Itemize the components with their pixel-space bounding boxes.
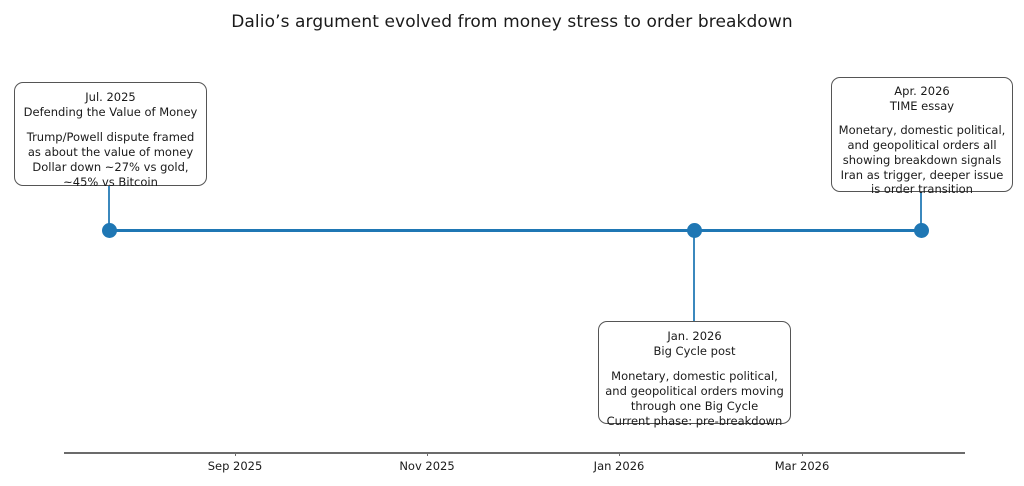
annotation-spacer: [21, 119, 200, 130]
annotation-box-event1: Jul. 2025 Defending the Value of Money T…: [14, 82, 207, 186]
annotation-spacer: [838, 113, 1006, 123]
annotation-header-event1: Jul. 2025 Defending the Value of Money: [21, 90, 200, 119]
x-axis-label-1: Nov 2025: [399, 459, 454, 473]
timeline-spine: [109, 229, 921, 232]
annotation-header-event2: Jan. 2026 Big Cycle post: [605, 329, 784, 358]
x-axis-tick-0: [235, 452, 236, 456]
x-axis-label-0: Sep 2025: [208, 459, 263, 473]
x-axis-tick-1: [427, 452, 428, 456]
annotation-box-event3: Apr. 2026 TIME essay Monetary, domestic …: [831, 77, 1013, 192]
x-axis-line: [64, 452, 965, 454]
annotation-spacer: [605, 358, 784, 369]
x-axis-tick-3: [802, 452, 803, 456]
x-axis-label-3: Mar 2026: [775, 459, 830, 473]
annotation-box-event2: Jan. 2026 Big Cycle post Monetary, domes…: [598, 321, 791, 424]
x-axis-tick-2: [619, 452, 620, 456]
annotation-body-event3: Monetary, domestic political, and geopol…: [838, 123, 1006, 197]
timeline-node-event1[interactable]: [102, 223, 117, 238]
connector-event2: [693, 230, 695, 321]
annotation-header-event3: Apr. 2026 TIME essay: [838, 84, 1006, 113]
timeline-node-event3[interactable]: [914, 223, 929, 238]
annotation-body-event1: Trump/Powell dispute framed as about the…: [21, 130, 200, 189]
x-axis-label-2: Jan 2026: [594, 459, 645, 473]
timeline-chart: Dalio’s argument evolved from money stre…: [0, 0, 1024, 486]
chart-title: Dalio’s argument evolved from money stre…: [0, 12, 1024, 32]
timeline-node-event2[interactable]: [687, 223, 702, 238]
annotation-body-event2: Monetary, domestic political, and geopol…: [605, 369, 784, 428]
